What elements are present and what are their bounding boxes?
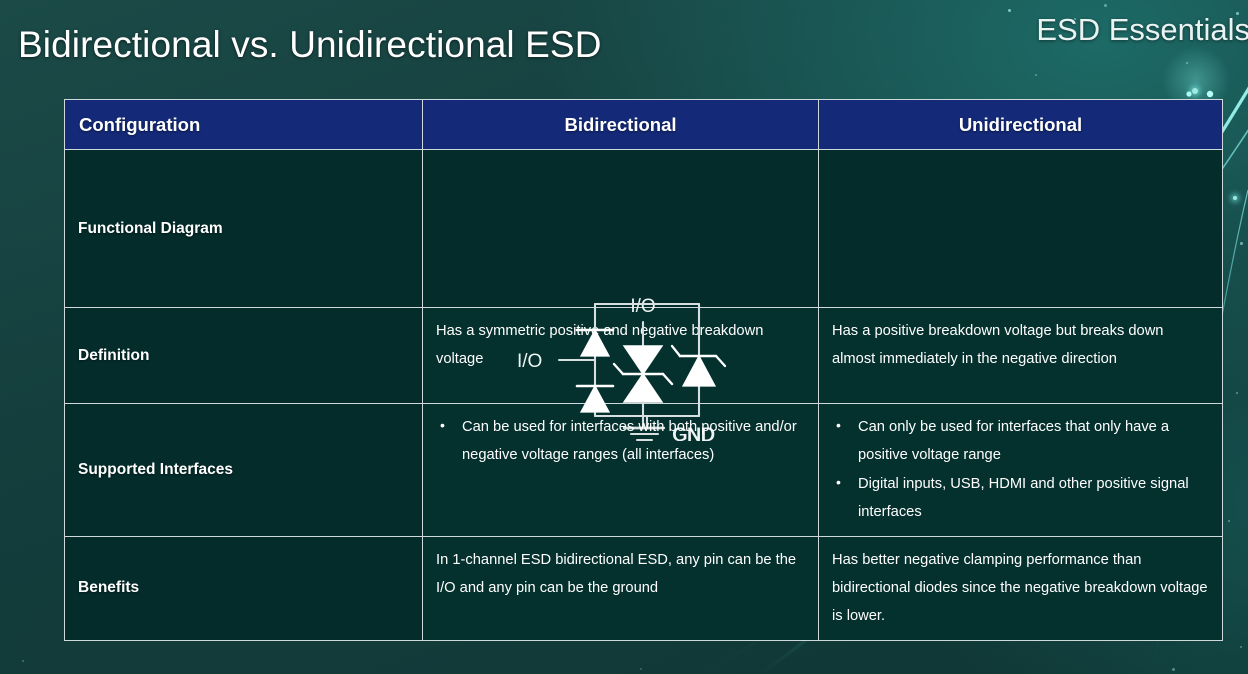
supported-bidirectional-list: Can be used for interfaces with both pos… [436,413,805,470]
list-item: Can only be used for interfaces that onl… [832,413,1209,470]
table-row-functional-diagram: Functional Diagram [65,150,1223,308]
list-item: Digital inputs, USB, HDMI and other posi… [832,470,1209,527]
slide-kicker: ESD Essentials [1036,12,1248,48]
cell-supported-unidirectional: Can only be used for interfaces that onl… [819,404,1223,537]
comparison-table-wrapper: Configuration Bidirectional Unidirection… [64,99,1222,641]
slide-title: Bidirectional vs. Unidirectional ESD [18,24,602,66]
unidirectional-io-label: I/O [517,351,542,372]
cell-unidirectional-diagram: I/O GND [819,150,1223,308]
supported-unidirectional-list: Can only be used for interfaces that onl… [832,413,1209,527]
comparison-table: Configuration Bidirectional Unidirection… [64,99,1223,641]
list-item: Can be used for interfaces with both pos… [436,413,805,470]
